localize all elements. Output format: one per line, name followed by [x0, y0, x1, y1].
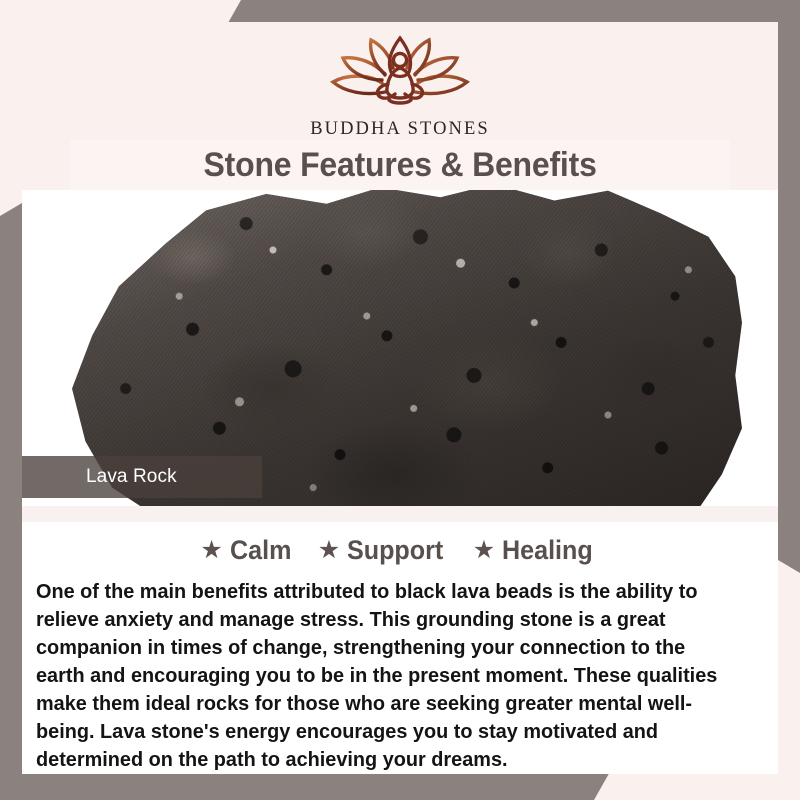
benefits-row: ★ Calm ★ Support ★ Healing — [22, 526, 778, 574]
header: BUDDHA STONES Stone Features & Benefits — [22, 22, 778, 190]
benefit-label: Healing — [502, 535, 593, 566]
star-icon: ★ — [318, 538, 340, 563]
benefit-label: Support — [347, 535, 443, 566]
benefit-item-support: ★ Support — [318, 535, 451, 566]
brand-name: BUDDHA STONES — [310, 119, 490, 140]
photo-caption-bar: Lava Rock — [22, 456, 262, 498]
brand-logo: BUDDHA STONES — [310, 30, 490, 140]
photo-caption-label: Lava Rock — [86, 466, 177, 488]
lava-rock-photo: Lava Rock — [22, 190, 778, 506]
benefit-label: Calm — [230, 535, 291, 566]
title-plate: Stone Features & Benefits — [70, 140, 730, 190]
photo-separator — [22, 506, 778, 522]
page-title: Stone Features & Benefits — [203, 146, 596, 185]
content-section: ★ Calm ★ Support ★ Healing One of the ma… — [22, 522, 778, 774]
description-paragraph: One of the main benefits attributed to b… — [36, 578, 739, 774]
lotus-meditation-figure-icon — [325, 30, 475, 114]
benefit-item-calm: ★ Calm — [200, 535, 295, 566]
star-icon: ★ — [200, 538, 222, 563]
benefit-item-healing: ★ Healing — [473, 535, 600, 566]
content-card: BUDDHA STONES Stone Features & Benefits … — [22, 22, 778, 774]
infographic-page: BUDDHA STONES Stone Features & Benefits … — [0, 0, 800, 800]
star-icon: ★ — [473, 538, 495, 563]
